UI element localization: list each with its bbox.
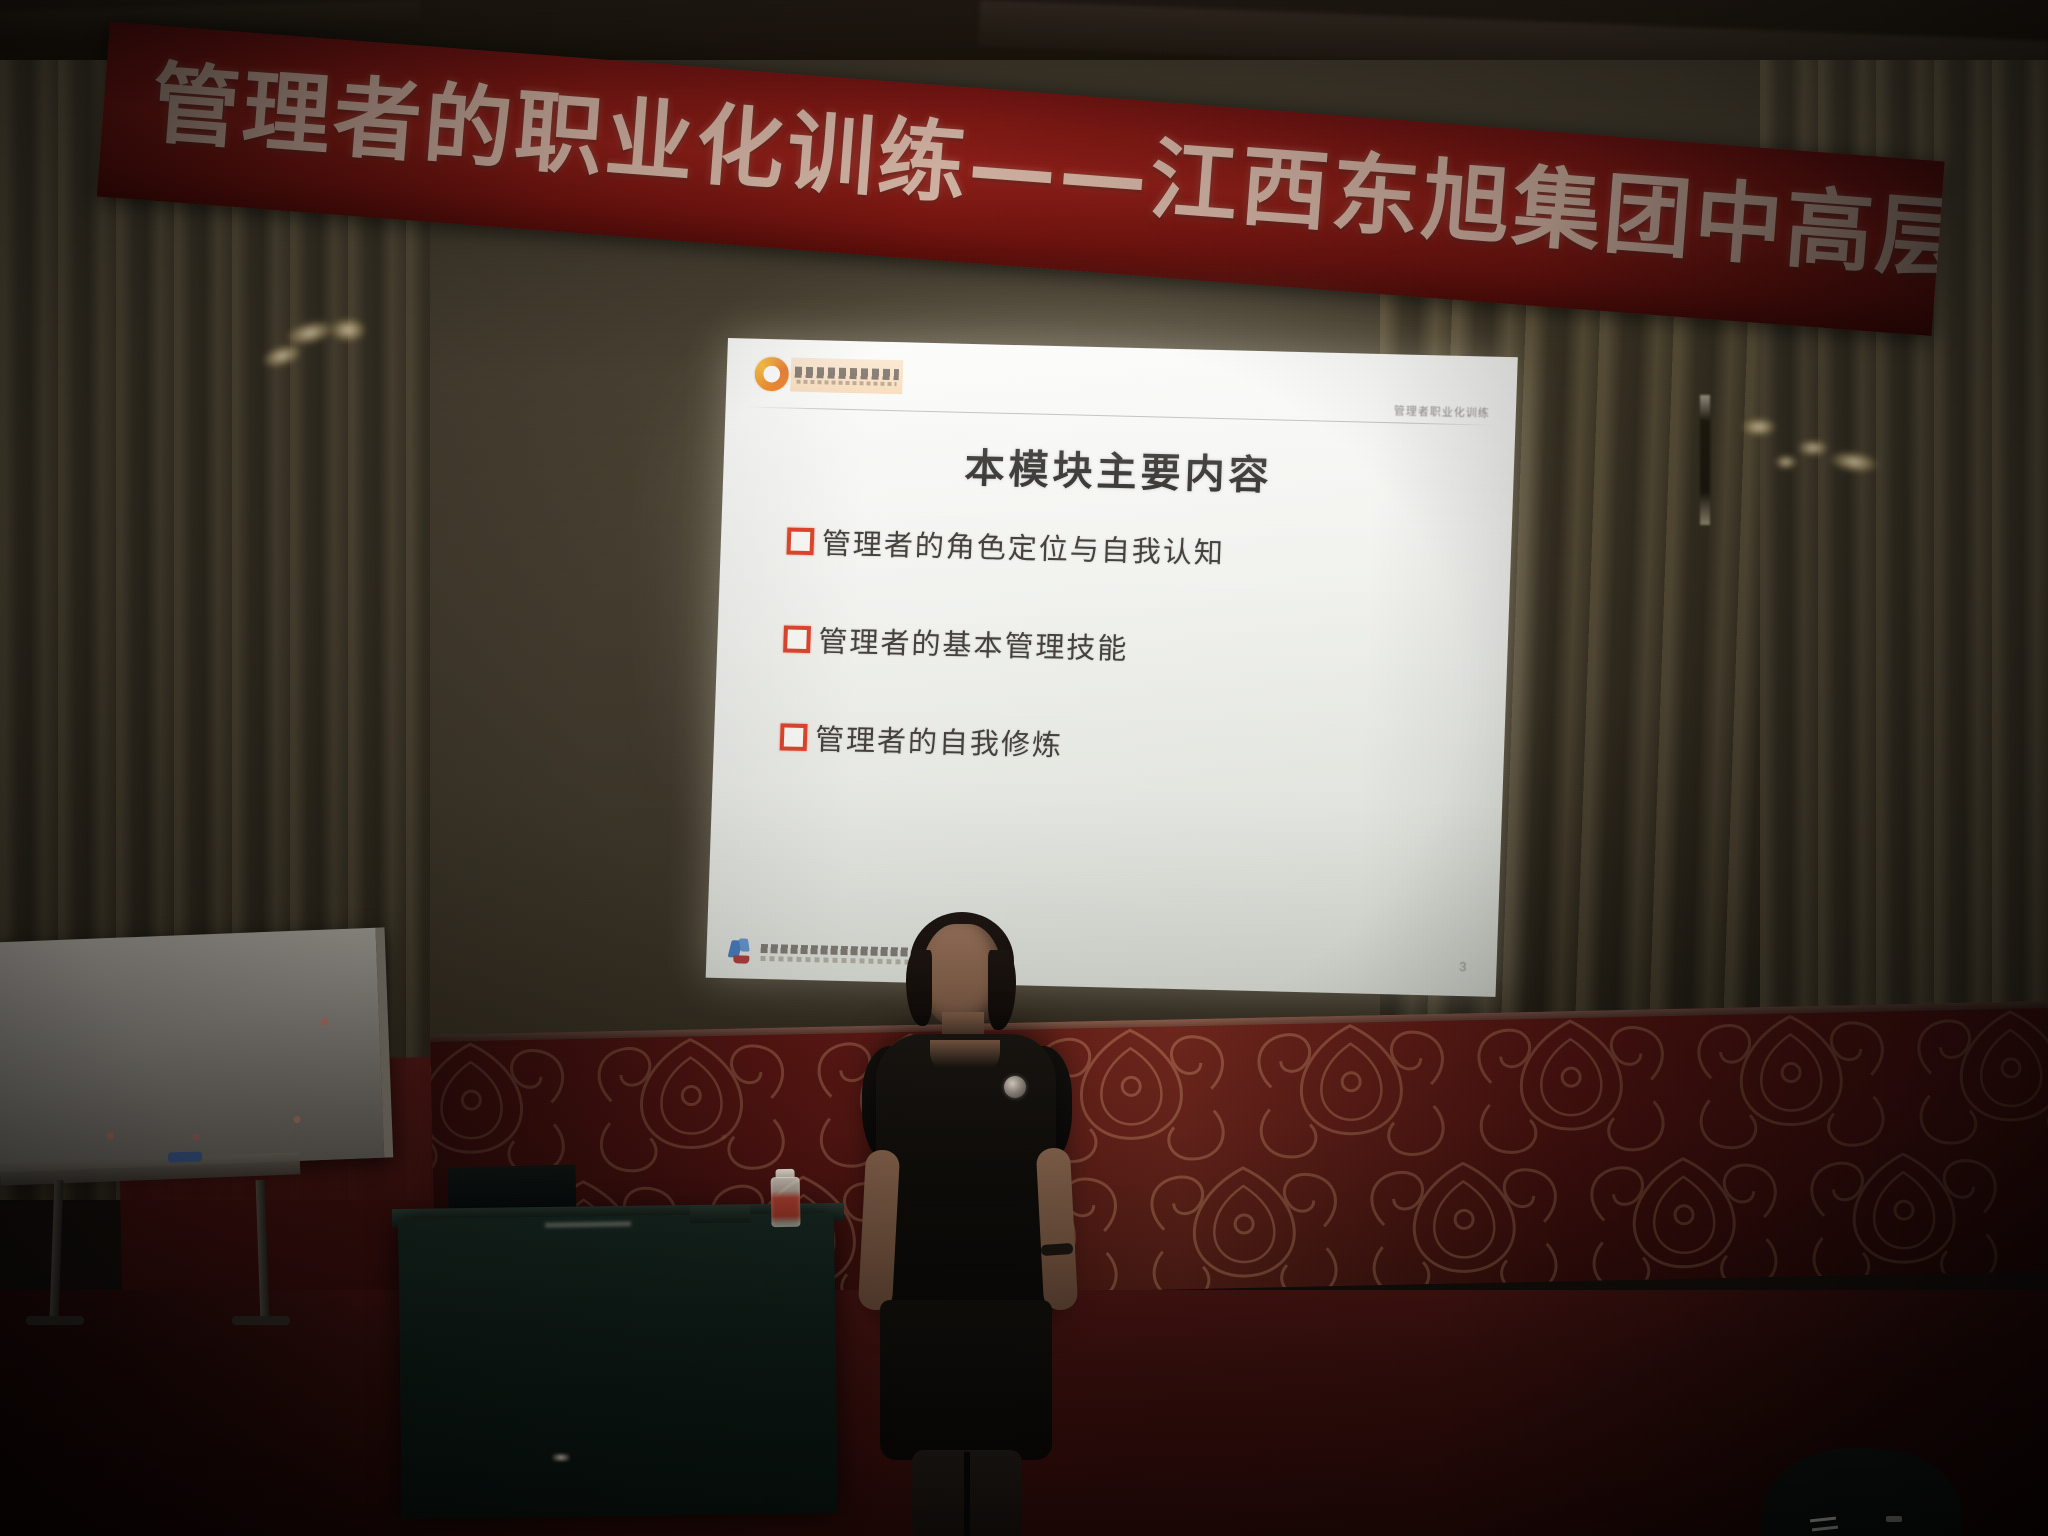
projector [690, 1205, 750, 1224]
list-item-label: 管理者的自我修炼 [814, 716, 1063, 764]
dongxu-logo-wordmark: dongxu-group-logo [790, 358, 903, 395]
list-item-label: 管理者的基本管理技能 [818, 618, 1129, 668]
curtain-rod [1700, 395, 1710, 525]
red-square-bullet-icon [786, 527, 814, 555]
seminar-photo-scene: 管理者的职业化训练——江西东旭集团中高层管理干部培训 dongxu-group-… [0, 0, 2048, 1536]
consultancy-logo-icon [728, 938, 755, 965]
slide-logo: dongxu-group-logo [754, 357, 903, 395]
presenter-skirt [880, 1300, 1052, 1460]
av-indicator-light-icon [552, 1453, 570, 1462]
slide-page-number: 3 [1459, 959, 1467, 974]
projected-slide: dongxu-group-logo 管理者职业化训练 本模块主要内容 管理者的角… [706, 338, 1518, 997]
slide-bullet-list: 管理者的角色定位与自我认知 管理者的基本管理技能 管理者的自我修炼 [777, 520, 1471, 831]
whiteboard-marker [168, 1151, 202, 1162]
list-item: 管理者的基本管理技能 [783, 617, 1468, 676]
water-bottle-body: bottled water [771, 1177, 801, 1227]
slide-footer-logo: 北大纵横管理咨询有限公司 [728, 938, 911, 968]
presenter-brooch [1004, 1076, 1026, 1098]
red-square-bullet-icon [783, 625, 811, 653]
presenter-collar [930, 1040, 1000, 1074]
red-square-bullet-icon [780, 723, 808, 751]
slide-header-divider [744, 406, 1498, 425]
speaker-highlight [1886, 1516, 1902, 1522]
water-bottle: bottled water [768, 1169, 802, 1228]
whiteboard-stand-foot [26, 1316, 84, 1325]
whiteboard-stand-foot [232, 1316, 290, 1325]
dongxu-logo-icon [754, 357, 789, 392]
av-table [398, 1213, 838, 1519]
presenter-bracelet [1041, 1243, 1074, 1256]
presenter-leg-gap [964, 1452, 970, 1536]
consultancy-logo-wordmark: 北大纵横管理咨询有限公司 [760, 943, 911, 964]
slide-title: 本模块主要内容 [723, 430, 1515, 507]
whiteboard [0, 927, 393, 1172]
list-item-label: 管理者的角色定位与自我认知 [821, 520, 1225, 572]
presenter-torso [876, 1034, 1056, 1314]
list-item: 管理者的自我修炼 [779, 715, 1464, 774]
slide-header-right: 管理者职业化训练 [1394, 402, 1491, 420]
list-item: 管理者的角色定位与自我认知 [786, 520, 1471, 579]
